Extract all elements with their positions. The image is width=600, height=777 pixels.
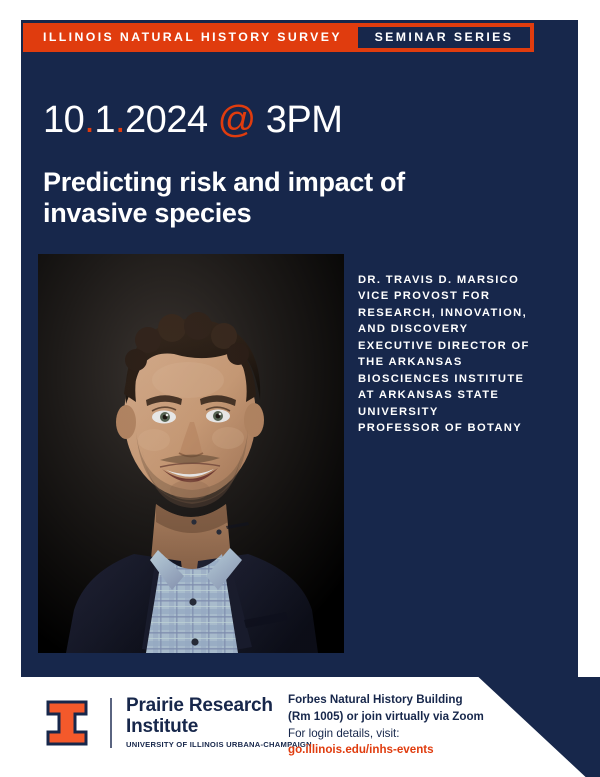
date-month: 10	[43, 99, 84, 141]
at-symbol: @	[218, 99, 256, 141]
university-label: UNIVERSITY OF ILLINOIS URBANA-CHAMPAIGN	[126, 740, 312, 749]
date-separator-2: .	[115, 99, 125, 141]
event-datetime: 10.1.2024 @ 3PM	[43, 101, 342, 139]
institute-name: Prairie Research Institute	[126, 696, 273, 738]
venue-line-2: (Rm 1005) or join virtually via Zoom	[288, 709, 484, 726]
header-badge: ILLINOIS NATURAL HISTORY SURVEY SEMINAR …	[23, 23, 534, 52]
bio-line: EXECUTIVE DIRECTOR OF	[358, 338, 568, 354]
bio-line: AND DISCOVERY	[358, 321, 568, 337]
talk-title-line-2: invasive species	[43, 198, 513, 229]
venue-line-1: Forbes Natural History Building	[288, 692, 484, 709]
talk-title-line-1: Predicting risk and impact of	[43, 167, 513, 198]
logo-divider	[110, 698, 112, 748]
institute-name-line-2: Institute	[126, 717, 273, 738]
date-separator-1: .	[84, 99, 94, 141]
bio-line: PROFESSOR OF BOTANY	[358, 420, 568, 436]
organization-label: ILLINOIS NATURAL HISTORY SURVEY	[23, 23, 356, 52]
talk-title: Predicting risk and impact of invasive s…	[43, 167, 513, 229]
venue-line-3: For login details, visit:	[288, 726, 484, 743]
illinois-block-i-logo	[45, 699, 89, 747]
bio-line: RESEARCH, INNOVATION,	[358, 305, 568, 321]
event-time: 3PM	[266, 99, 343, 141]
institute-name-line-1: Prairie Research	[126, 696, 273, 717]
date-year: 2024	[125, 99, 208, 141]
venue-info: Forbes Natural History Building (Rm 1005…	[288, 692, 484, 759]
bio-line: THE ARKANSAS	[358, 354, 568, 370]
bio-line: BIOSCIENCES INSTITUTE	[358, 371, 568, 387]
bio-line: VICE PROVOST FOR	[358, 288, 568, 304]
bio-line: DR. TRAVIS D. MARSICO	[358, 272, 568, 288]
speaker-bio: DR. TRAVIS D. MARSICO VICE PROVOST FOR R…	[358, 272, 568, 437]
series-label: SEMINAR SERIES	[356, 25, 532, 50]
event-link[interactable]: go.illinois.edu/inhs-events	[288, 742, 484, 759]
date-day: 1	[94, 99, 115, 141]
bio-line: UNIVERSITY	[358, 404, 568, 420]
speaker-photo	[38, 254, 344, 653]
poster-root: ILLINOIS NATURAL HISTORY SURVEY SEMINAR …	[0, 0, 600, 777]
bio-line: AT ARKANSAS STATE	[358, 387, 568, 403]
